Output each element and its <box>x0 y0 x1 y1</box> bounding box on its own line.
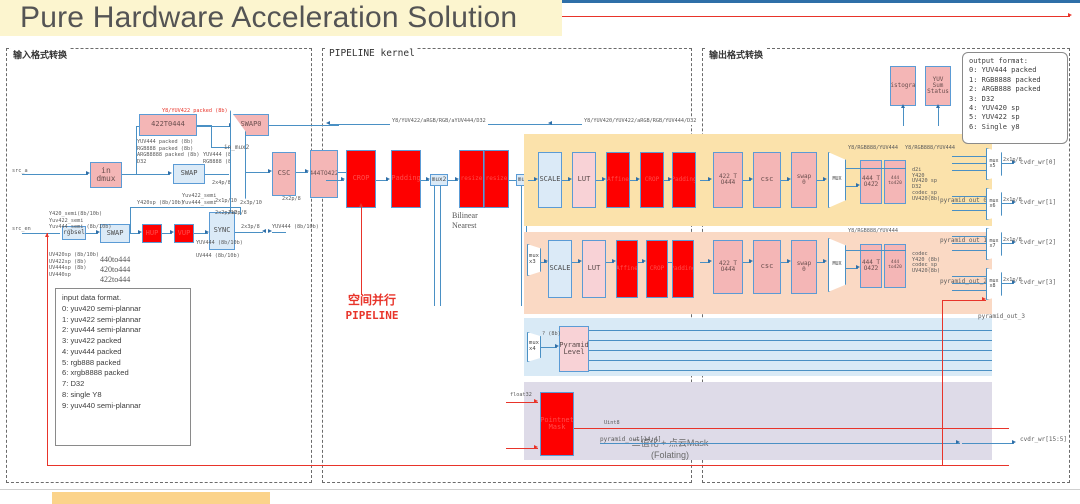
pyramid-width-label: ? (8b) <box>542 331 561 338</box>
input-legend-item: 3: yuv422 packed <box>62 336 184 347</box>
mux2-feed1 <box>434 186 435 306</box>
cvdr-wr-1: cvdr_wr[1] <box>1020 199 1056 207</box>
cvdr-wr-3: cvdr_wr[3] <box>1020 279 1056 287</box>
block-resize-a[interactable]: resize <box>459 150 484 208</box>
input-legend-header: input data format. <box>62 293 184 304</box>
section-output-label: 输出格式转换 <box>707 48 765 61</box>
bus-top2-label: Y8/YUV420/YUV422/aRGB/RGB/YUV444/D32 <box>582 118 698 125</box>
feed-x7-a <box>952 236 986 237</box>
wire-mux2-csc <box>246 172 270 173</box>
mux-final-x7[interactable]: mux x7 <box>986 228 1002 260</box>
arrow-out2-444to422 <box>856 265 860 269</box>
block-lut-row1[interactable]: LUT <box>572 152 596 208</box>
mux-x5-width: 2x1p/8 <box>1003 157 1022 164</box>
mux-row2-x3[interactable]: mux x3 <box>527 244 541 276</box>
pyr-out-2 <box>589 350 992 351</box>
pyramid-out-2-label: pyramid_out_2 <box>940 278 987 286</box>
block-lut-row2[interactable]: LUT <box>582 240 606 298</box>
bus-top2-arrow <box>548 121 552 125</box>
page-title: Pure Hardware Acceleration Solution <box>20 1 517 35</box>
mux-final-x5[interactable]: mux x5 <box>986 148 1002 180</box>
feed-x5-a <box>952 156 986 157</box>
mux-out2[interactable]: MUX <box>828 238 846 292</box>
note-yuv444b: YUV444 (8b/10b) <box>196 240 243 247</box>
parallel-note-en: PIPELINE <box>327 309 417 323</box>
mux2-feed2 <box>440 186 441 306</box>
pyr-out-3 <box>589 360 992 361</box>
pyramid-out-3-label: pyramid_out_3 <box>978 313 1025 321</box>
note-w6: 2x2p/8 <box>228 210 247 217</box>
block-csc-out1[interactable]: csc <box>753 152 781 208</box>
block-padding-pipeline[interactable]: Padding <box>391 150 421 208</box>
wire-422-down <box>211 125 212 147</box>
input-legend-item: 4: yuv444 packed <box>62 347 184 358</box>
feed-x8-b <box>952 283 986 284</box>
red-bus-out-h <box>942 300 986 301</box>
wire-y420-sync <box>130 207 240 208</box>
input-legend-item: 8: single Y8 <box>62 390 184 401</box>
section-input-label: 输入格式转换 <box>11 48 69 61</box>
block-csc-out2[interactable]: csc <box>753 240 781 294</box>
pyr-out-1 <box>589 340 992 341</box>
pyr-bus-arrow2 <box>1012 440 1016 444</box>
arrow-444to422-in <box>305 169 309 173</box>
note-w7: 2x2p/8 <box>282 196 301 203</box>
input-legend-item: 2: yuv444 semi-plannar <box>62 325 184 336</box>
output-legend-item: 1: RGB8888 packed <box>969 76 1061 85</box>
block-in-dmux[interactable]: in dmux <box>90 162 122 188</box>
pyramid-out-bus-label: pyramid_out[14:4] <box>600 436 661 444</box>
output-legend-item: 4: YUV420 sp <box>969 104 1061 113</box>
mux-pyramid-x4[interactable]: mux x4 <box>527 332 541 362</box>
input-legend-item: 5: rgb888 packed <box>62 358 184 369</box>
wire-srcen <box>22 233 60 234</box>
block-padding-row1[interactable]: Padding <box>672 152 696 208</box>
arrow-row1-scale <box>534 177 538 181</box>
note-conv: 440to444 420to444 422to444 <box>100 255 130 285</box>
out2-bus-label: Y8/RGB888/YUV444 <box>848 228 898 235</box>
feed-x6-c <box>952 210 986 211</box>
arrow-out1-mux <box>823 177 827 181</box>
wire-out2-bypass <box>846 250 906 251</box>
input-legend-item: 1: yuv422 semi-plannar <box>62 315 184 326</box>
block-crop-row2[interactable]: CROP <box>646 240 668 298</box>
cvdr-wr-bottom: cvdr_wr[15:5] <box>1020 436 1067 444</box>
note-input-list1: YUV444 packed (8b) RGB888 packed (8b) AR… <box>137 139 199 165</box>
arrow-out2-in <box>708 259 712 263</box>
block-scale-row1[interactable]: SCALE <box>538 152 562 208</box>
pointnet-in-type: float32 <box>510 392 532 399</box>
block-crop-row1[interactable]: CROP <box>640 152 664 208</box>
block-crop-pipeline[interactable]: CROP <box>346 150 376 208</box>
wire-y420-sync-v <box>130 207 131 233</box>
section-pipeline-label: PIPELINE kernel <box>327 48 417 59</box>
input-format-legend: input data format. 0: yuv420 semi-planna… <box>55 288 191 446</box>
input-legend-item: 6: xrgb8888 packed <box>62 368 184 379</box>
block-444to420-out1[interactable]: 444 to420 <box>884 160 906 204</box>
note-w5: 2x3p/8 <box>241 224 260 231</box>
parallel-note-cn: 空间并行 <box>327 293 417 309</box>
mux-final-x6[interactable]: mux x6 <box>986 188 1002 220</box>
red-bus-out <box>942 300 943 465</box>
output-legend-item: 5: YUV422 sp <box>969 113 1061 122</box>
block-444to422-out1[interactable]: 444_T O422 <box>860 160 882 204</box>
note-w1: 2x4p/8 <box>212 180 231 187</box>
wire-swap0-422to444 <box>269 125 339 126</box>
pointnet-caption-2: (Folating) <box>560 449 780 461</box>
block-422to444-out2[interactable]: 422_T O444 <box>713 240 743 294</box>
arrow-out1-in <box>708 177 712 181</box>
arrow-pointnet-in1 <box>534 399 538 403</box>
arrow-row2-scale <box>544 259 548 263</box>
arrow-sync-out1 <box>262 229 266 233</box>
note-list5: Yuv422_semi Yuv444_semi <box>182 193 216 206</box>
mux3a-feed1 <box>521 186 522 306</box>
block-padding-row2[interactable]: Padding <box>672 240 694 298</box>
wire-swap-mux <box>205 174 229 175</box>
arrow-out1-444to422 <box>856 183 860 187</box>
block-swap-out2[interactable]: swap 0 <box>791 240 817 294</box>
block-affine-row2[interactable]: Affine <box>616 240 638 298</box>
red-feedback-arrow <box>45 233 49 237</box>
out1-codec-note: d2i Y420 UV420 sp D32 codec_sp UV420(8b) <box>912 168 940 202</box>
feed-x6-a <box>952 196 986 197</box>
block-422to444-input[interactable]: 422T0444 <box>139 114 197 136</box>
arrow-pointnet-in2 <box>534 445 538 449</box>
feed-x5-b <box>952 163 986 164</box>
red-bus-out-arrow <box>982 297 986 301</box>
pyr-bus-bottom2 <box>962 443 1014 444</box>
arrow-yuv-up <box>936 104 940 108</box>
note-list2: Y420_semi(8b/10b) Yuv422_semi Yuv444_sem… <box>49 211 111 231</box>
pointnet-out-type: Uint8 <box>604 420 620 427</box>
wire-out1-bypass <box>846 168 906 169</box>
red-feedback-bottom <box>47 465 1009 466</box>
arrow-hist-up <box>901 104 905 108</box>
block-vup[interactable]: VUP <box>174 224 194 243</box>
title-banner: Pure Hardware Acceleration Solution <box>0 0 562 36</box>
input-legend-item: 0: yuv420 semi-plannar <box>62 304 184 315</box>
src-en-label: src_en <box>12 226 31 233</box>
mux-x8-width: 2x1p/8 <box>1003 277 1022 284</box>
red-feedback-left <box>47 233 48 465</box>
crop-red-feed <box>361 205 362 295</box>
wire-sync-out <box>235 232 263 233</box>
output-legend-header: output format: <box>969 57 1061 66</box>
arrow-pad-in <box>386 177 390 181</box>
block-histogram[interactable]: histogram <box>890 66 916 106</box>
feed-x8-c <box>952 290 986 291</box>
bus-top-arrow <box>326 121 330 125</box>
mux-out1[interactable]: MUX <box>828 152 846 208</box>
wire-yuv-up <box>938 106 939 126</box>
input-legend-item: 7: D32 <box>62 379 184 390</box>
block-444to422-input[interactable]: 444TO422 <box>310 150 338 198</box>
out1-bus-label: Y8/RGB888/YUV444 <box>848 145 898 152</box>
cvdr-wr-2: cvdr_wr[2] <box>1020 239 1056 247</box>
out2-codec-note: codec Y420 (8b) codec_sp UV420(8b) <box>912 252 940 275</box>
wire-pointnet-out <box>574 428 1009 429</box>
wire-dmux-swap <box>122 174 170 175</box>
feed-x8-a <box>952 276 986 277</box>
bottom-accent-bar <box>52 492 270 504</box>
note-uv444: UV444 (8b/10b) <box>196 253 240 260</box>
wire-src-dmux <box>22 174 88 175</box>
block-422to444-out1[interactable]: 422_T O444 <box>713 152 743 208</box>
block-scale-row2[interactable]: SCALE <box>548 240 572 298</box>
pyr-out-4 <box>589 370 992 371</box>
block-hup[interactable]: HUP <box>142 224 162 243</box>
bilinear-label: Bilinear Nearest <box>452 211 478 231</box>
feed-x6-b <box>952 203 986 204</box>
crop-red-arrow <box>359 203 363 207</box>
arrow-out2-mux <box>823 259 827 263</box>
wire-sync-out2 <box>272 232 286 233</box>
pyr-bus-arrow <box>956 440 960 444</box>
bus-top-label: Y8/YUV422/aRGB/RGB/aYUV444/D32 <box>390 118 488 125</box>
note-list4: Y420sp (8b/10b) <box>137 200 184 207</box>
output-legend-item: 0: YUV444 packed <box>969 66 1061 75</box>
output-legend-item: 3: D32 <box>969 95 1061 104</box>
parallel-note: 空间并行 PIPELINE <box>327 293 417 323</box>
output-legend-item: 6: Single y8 <box>969 123 1061 132</box>
block-resize-b[interactable]: resize <box>484 150 509 208</box>
input-legend-item: 9: yuv440 semi-plannar <box>62 401 184 412</box>
block-swap-input[interactable]: SWAP <box>173 164 205 184</box>
cvdr-wr-0: cvdr_wr[0] <box>1020 159 1056 167</box>
pyr-out-0 <box>589 330 992 331</box>
feed-x7-b <box>952 243 986 244</box>
mux2-block[interactable]: mux2 <box>430 174 448 186</box>
feed-x5-c <box>952 170 986 171</box>
arrow-crop-in <box>341 177 345 181</box>
note-w2: 2x1p/10 <box>215 198 237 205</box>
wire-422-out <box>197 125 211 126</box>
note-w4: 2x3p/10 <box>240 200 262 207</box>
note-list3: UV420sp (8b/10b) UV422sp (8b) UV444sp (8… <box>49 252 99 278</box>
block-yuv-sum-status[interactable]: YUV Sum Status <box>925 66 951 106</box>
block-pyramid-level[interactable]: Pyramid Level <box>559 326 589 372</box>
mux-x6-width: 2x1p/8 <box>1003 197 1022 204</box>
bottom-divider <box>0 489 1080 490</box>
title-arrow-red <box>562 16 1070 17</box>
output-legend-item: 2: ARGB888 packed <box>969 85 1061 94</box>
mux-x7-width: 2x1p/8 <box>1003 237 1022 244</box>
wire-hist-up <box>903 106 904 126</box>
band-pyramid <box>524 318 992 376</box>
in-mux2-label: in_mux2 <box>224 144 249 152</box>
note-yuv444a: YUV444 (8b/10b) <box>272 224 319 231</box>
mux-final-x8[interactable]: mux x8 <box>986 268 1002 300</box>
block-swap-out1[interactable]: swap 0 <box>791 152 817 208</box>
diagram-root: Pure Hardware Acceleration Solution 输入格式… <box>0 0 1080 504</box>
pointnet-caption: 二值化 + 点云Mask (Folating) <box>560 437 780 461</box>
block-csc-input[interactable]: CSC <box>272 152 296 196</box>
feed-x7-c <box>952 250 986 251</box>
arrow-swap-in <box>168 171 172 175</box>
output-format-legend: output format: 0: YUV444 packed 1: RGB88… <box>962 52 1068 144</box>
out1-bus2-label: Y8/RGB888/YUV444 <box>905 145 955 152</box>
block-affine-row1[interactable]: Affine <box>606 152 630 208</box>
